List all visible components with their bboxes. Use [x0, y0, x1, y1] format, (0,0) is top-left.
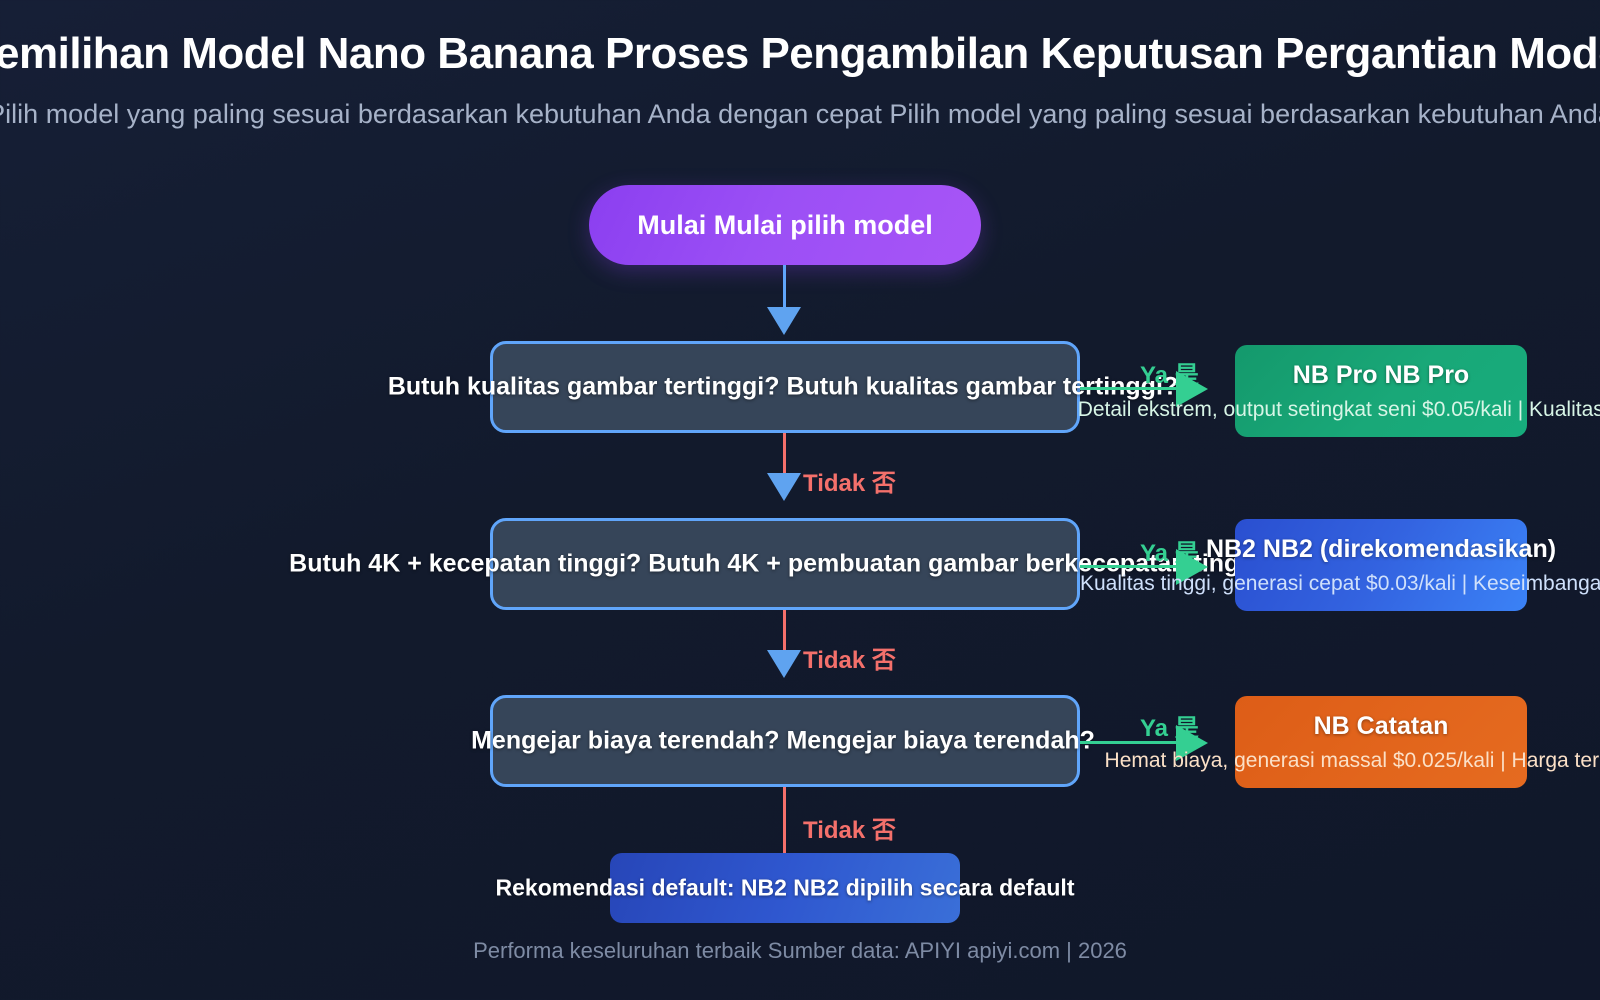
- outcome-node-nb-pro-title: NB Pro NB Pro: [1293, 361, 1469, 390]
- outcome-node-nb2-subtitle: Kualitas tinggi, generasi cepat $0.03/ka…: [1080, 572, 1600, 596]
- edge-label-no-3: Tidak 否: [803, 810, 896, 845]
- arrowhead-down-icon: [767, 650, 801, 678]
- outcome-node-nb-pro[interactable]: NB Pro NB Pro Detail ekstrem, output set…: [1235, 345, 1527, 437]
- outcome-node-nb2[interactable]: NB2 NB2 (direkomendasikan) Kualitas ting…: [1235, 519, 1527, 611]
- edge-decision-3-no: [783, 787, 786, 853]
- decision-node-1-label: Butuh kualitas gambar tertinggi? Butuh k…: [388, 373, 1178, 402]
- default-recommendation-node[interactable]: Rekomendasi default: NB2 NB2 dipilih sec…: [610, 853, 960, 923]
- arrowhead-down-icon: [767, 307, 801, 335]
- edge-decision-1-no: [783, 433, 786, 477]
- outcome-node-nb-catatan-subtitle: Hemat biaya, generasi massal $0.025/kali…: [1105, 749, 1600, 773]
- flowchart-canvas: Pemilihan Model Nano Banana Proses Penga…: [0, 0, 1600, 1000]
- edge-label-yes-3: Ya 是: [1140, 708, 1199, 743]
- edge-label-no-2: Tidak 否: [803, 640, 896, 675]
- outcome-node-nb-catatan-title: NB Catatan: [1314, 712, 1449, 741]
- default-recommendation-label: Rekomendasi default: NB2 NB2 dipilih sec…: [496, 875, 1075, 902]
- edge-label-yes-2: Ya 是: [1140, 533, 1199, 568]
- arrowhead-down-icon: [767, 473, 801, 501]
- page-title: Pemilihan Model Nano Banana Proses Penga…: [0, 30, 1600, 78]
- footer-text: Performa keseluruhan terbaik Sumber data…: [473, 938, 1127, 964]
- edge-decision-2-no: [783, 610, 786, 654]
- outcome-node-nb2-title: NB2 NB2 (direkomendasikan): [1206, 535, 1556, 564]
- start-node-label: Mulai Mulai pilih model: [637, 210, 933, 241]
- edge-label-yes-1: Ya 是: [1140, 355, 1199, 390]
- page-subtitle: Pilih model yang paling sesuai berdasark…: [0, 100, 1600, 130]
- edge-start-to-decision-1: [783, 265, 786, 311]
- outcome-node-nb-catatan[interactable]: NB Catatan Hemat biaya, generasi massal …: [1235, 696, 1527, 788]
- outcome-node-nb-pro-subtitle: Detail ekstrem, output setingkat seni $0…: [1078, 398, 1600, 422]
- decision-node-3-label: Mengejar biaya terendah? Mengejar biaya …: [471, 727, 1095, 756]
- edge-label-no-1: Tidak 否: [803, 463, 896, 498]
- start-node[interactable]: Mulai Mulai pilih model: [589, 185, 981, 265]
